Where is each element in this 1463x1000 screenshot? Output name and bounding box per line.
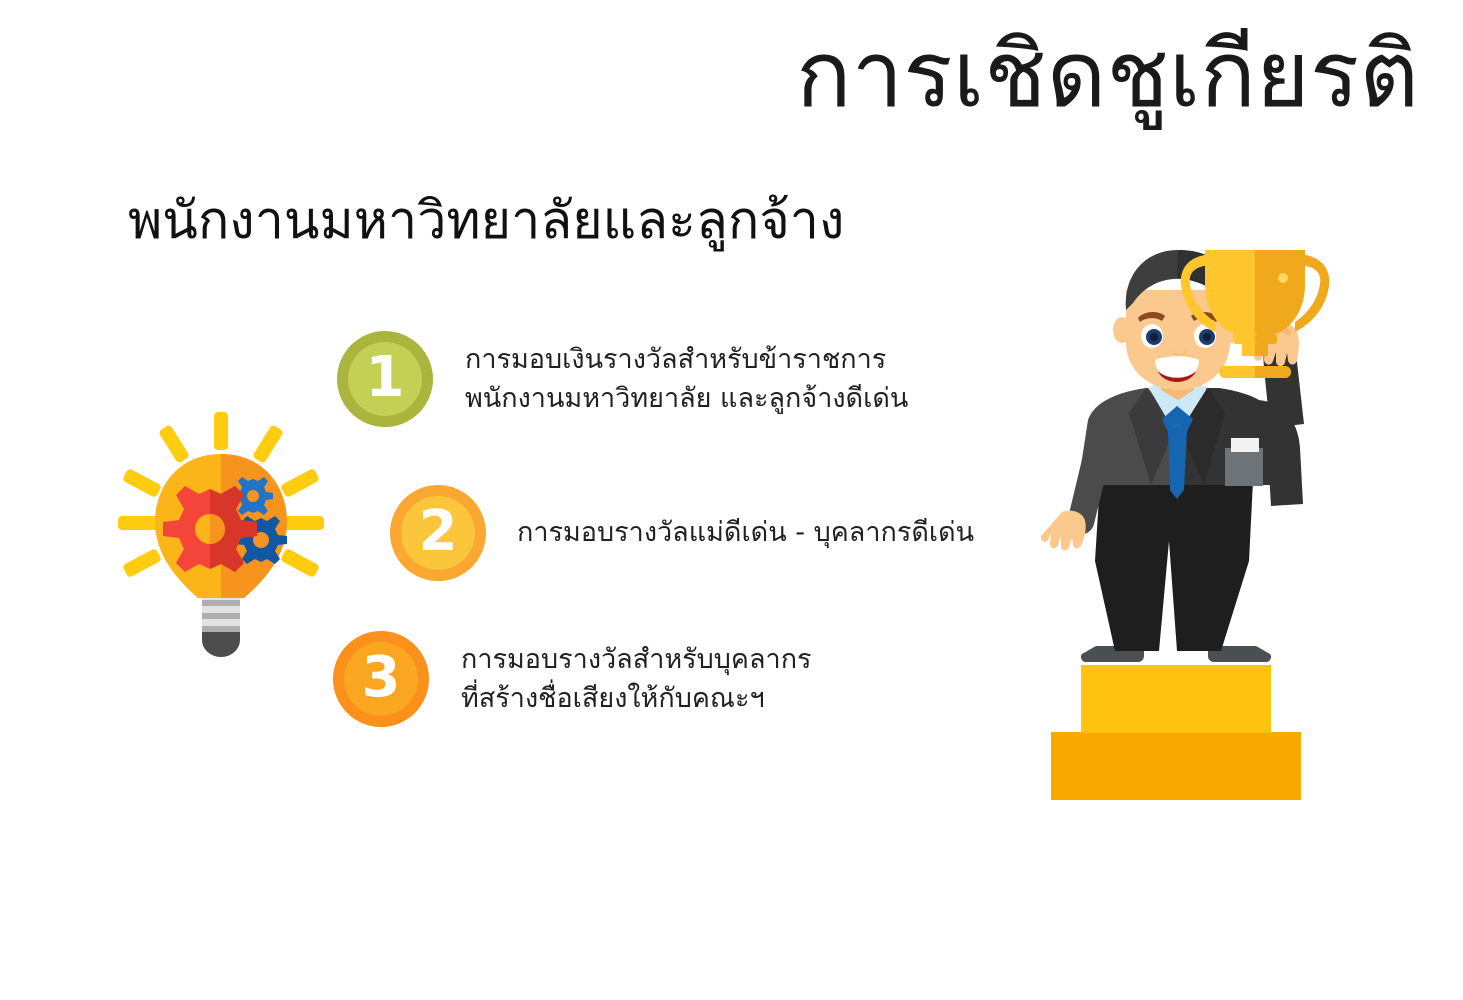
badge-number-3[interactable]: 3: [333, 631, 429, 727]
lightbulb-idea-icon: [118, 412, 323, 657]
bullet-item-3[interactable]: 3 การมอบรางวัลสำหรับบุคลากร ที่สร้างชื่อ…: [333, 631, 812, 727]
badge-number-2[interactable]: 2: [390, 485, 486, 581]
shoes: [1081, 646, 1271, 662]
bullet-text-3-line1: การมอบรางวัลสำหรับบุคลากร: [461, 640, 812, 679]
trousers: [1095, 481, 1253, 651]
lightbulb-base: [202, 593, 240, 657]
bullet-text-2-line1: การมอบรางวัลแม่ดีเด่น - บุคลากรดีเด่น: [517, 513, 974, 552]
badge-number-label-3: 3: [362, 650, 401, 706]
character-svg: [1015, 238, 1365, 813]
left-hand: [1041, 511, 1086, 551]
bullet-text-1: การมอบเงินรางวัลสำหรับข้าราชการ พนักงานม…: [465, 340, 908, 418]
badge-number-label-1: 1: [366, 350, 405, 406]
slide-canvas: การเชิดชูเกียรติ พนักงานมหาวิทยาลัยและลู…: [0, 0, 1463, 1000]
pocket-card: [1231, 438, 1259, 452]
page-subtitle: พนักงานมหาวิทยาลัยและลูกจ้าง: [128, 190, 844, 252]
bullet-item-2[interactable]: 2 การมอบรางวัลแม่ดีเด่น - บุคลากรดีเด่น: [390, 485, 974, 581]
page-title: การเชิดชูเกียรติ: [796, 22, 1419, 128]
bullet-text-1-line2: พนักงานมหาวิทยาลัย และลูกจ้างดีเด่น: [465, 379, 908, 418]
businessman-with-trophy-illustration: [1015, 238, 1365, 813]
breast-pocket: [1225, 448, 1263, 486]
lightbulb-svg: [118, 412, 323, 657]
bullet-item-1[interactable]: 1 การมอบเงินรางวัลสำหรับข้าราชการ พนักงา…: [337, 331, 908, 427]
badge-number-label-2: 2: [419, 504, 458, 560]
bullet-text-2: การมอบรางวัลแม่ดีเด่น - บุคลากรดีเด่น: [517, 513, 974, 552]
trophy-highlight: [1278, 273, 1288, 283]
bullet-text-1-line1: การมอบเงินรางวัลสำหรับข้าราชการ: [465, 340, 908, 379]
bullet-text-3-line2: ที่สร้างชื่อเสียงให้กับคณะฯ: [461, 679, 812, 718]
badge-number-1[interactable]: 1: [337, 331, 433, 427]
winner-podium: [1051, 665, 1301, 800]
bullet-text-3: การมอบรางวัลสำหรับบุคลากร ที่สร้างชื่อเส…: [461, 640, 812, 718]
